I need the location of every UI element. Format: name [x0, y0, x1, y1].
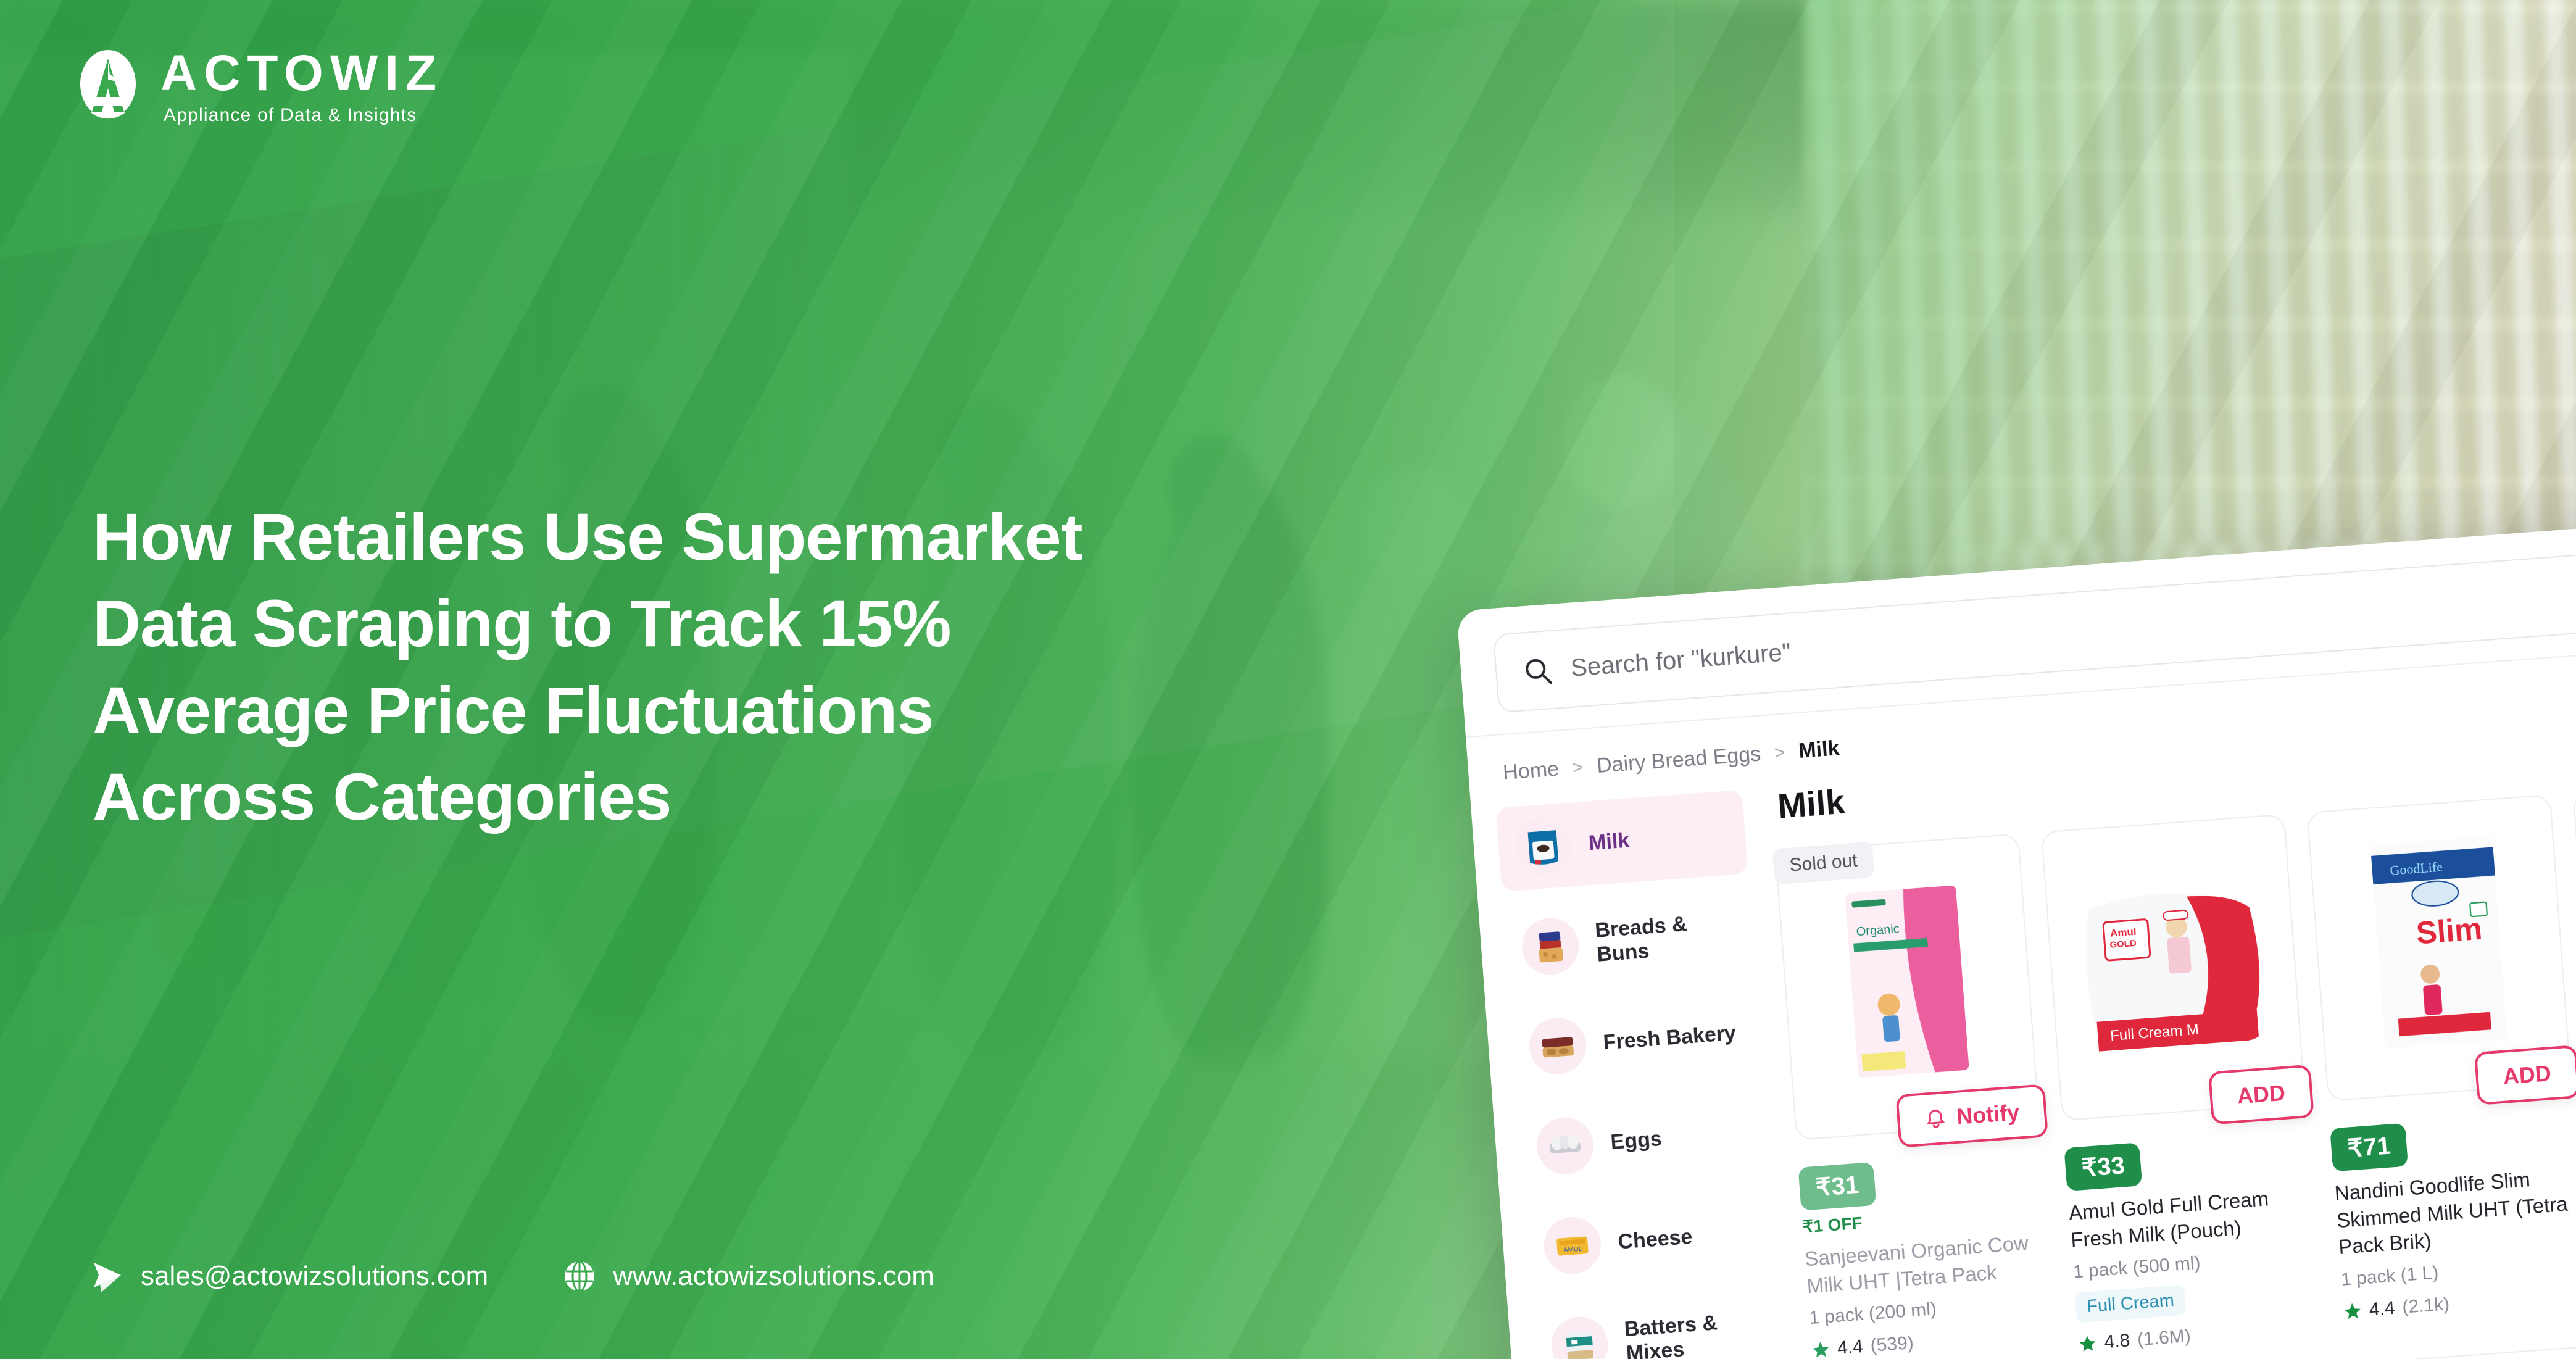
sidebar-item-milk[interactable]: Milk	[1496, 790, 1748, 892]
search-icon	[1522, 655, 1553, 686]
app-mockup: Search for "kurkure" Home > Dairy Bread …	[1456, 512, 2576, 1359]
footer-email[interactable]: sales@actowizsolutions.com	[90, 1259, 488, 1294]
sidebar-item-breads-buns[interactable]: Breads & Buns	[1503, 889, 1755, 991]
product-image: Sold out Organic	[1775, 833, 2040, 1141]
product-name: Nandini Goodlife Slim Skimmed Milk UHT (…	[2333, 1162, 2576, 1260]
brand-name: ACTOWIZ	[160, 48, 443, 99]
brand-tagline: Appliance of Data & Insights	[164, 106, 443, 125]
rating-count: (539)	[1870, 1332, 1914, 1357]
footer-website[interactable]: www.actowizsolutions.com	[562, 1259, 934, 1294]
product-name: Amul Gold Full Cream Fresh Milk (Pouch)	[2068, 1182, 2316, 1253]
svg-text:GOLD: GOLD	[2109, 938, 2137, 950]
product-grid-row-1: Sold out Organic	[1775, 755, 2576, 1359]
milk-pouch-icon	[1513, 817, 1573, 877]
sanjeevani-tetra-pack-image: Organic	[1845, 885, 1969, 1081]
batter-pack-icon	[1549, 1315, 1610, 1359]
nandini-slim-tetra-image: GoodLife Slim	[2370, 836, 2508, 1052]
headline-line-2: Data Scraping to Track 15%	[93, 580, 1315, 667]
rating-count: (2.1k)	[2401, 1294, 2450, 1318]
sidebar-label: Batters & Mixes	[1624, 1308, 1768, 1359]
headline-line-3: Average Price Fluctuations	[93, 667, 1315, 754]
sidebar-label: Breads & Buns	[1594, 908, 1738, 966]
product-card[interactable]: Sold out Organic	[1775, 833, 2057, 1359]
bread-icon	[1520, 916, 1581, 976]
add-button[interactable]: ADD	[2474, 1045, 2576, 1105]
sidebar-item-fresh-bakery[interactable]: Fresh Bakery	[1510, 989, 1763, 1091]
breadcrumb-item-dairy-bread-eggs[interactable]: Dairy Bread Eggs	[1596, 742, 1762, 778]
add-label: ADD	[2236, 1080, 2286, 1110]
notify-button[interactable]: Notify	[1895, 1084, 2048, 1147]
bakery-icon	[1527, 1016, 1588, 1076]
status-badge: Sold out	[1772, 842, 1875, 885]
headline-line-1: How Retailers Use Supermarket	[93, 494, 1315, 580]
star-icon	[2343, 1301, 2362, 1321]
notify-label: Notify	[1956, 1099, 2021, 1129]
product-image: Nestle EveryDay ADD	[2572, 775, 2576, 1082]
svg-text:Amul: Amul	[2109, 926, 2137, 939]
product-image: Amul GOLD Full Cream M ADD	[2041, 814, 2306, 1121]
grocery-app-window: Search for "kurkure" Home > Dairy Bread …	[1456, 512, 2576, 1359]
rating-value: 4.4	[2369, 1297, 2396, 1320]
footer-website-label: www.actowizsolutions.com	[613, 1261, 934, 1292]
price-badge: ₹71	[2330, 1123, 2408, 1172]
bell-icon	[1924, 1107, 1948, 1131]
sidebar-item-batters-mixes[interactable]: Batters & Mixes	[1532, 1289, 1785, 1359]
product-listing: Milk Sold out Organic	[1742, 688, 2576, 1359]
rating-count: (1.6M)	[2137, 1326, 2192, 1350]
app-body: Milk Breads & Buns	[1471, 707, 2576, 1359]
product-card[interactable]: GoodLife Slim ADD	[2307, 794, 2576, 1336]
svg-text:AMUL: AMUL	[1563, 1245, 1582, 1254]
cheese-icon: AMUL	[1542, 1215, 1603, 1276]
sidebar-label: Cheese	[1617, 1224, 1693, 1254]
add-label: ADD	[2502, 1060, 2552, 1090]
footer-contact: sales@actowizsolutions.com www.actowizso…	[90, 1259, 934, 1294]
eggs-icon	[1535, 1115, 1595, 1176]
sidebar-label: Fresh Bakery	[1602, 1021, 1737, 1055]
star-icon	[2078, 1334, 2098, 1353]
product-rating: 4.8 (1.6M)	[2078, 1316, 2323, 1355]
price-badge: ₹31	[1798, 1162, 1877, 1211]
product-rating: 4.4 (539)	[1811, 1322, 2056, 1359]
product-card[interactable]: Amul GOLD Full Cream M ADD	[2041, 814, 2323, 1355]
breadcrumb-item-home[interactable]: Home	[1502, 757, 1560, 786]
amul-gold-pouch-image: Amul GOLD Full Cream M	[2074, 873, 2271, 1055]
sidebar-item-cheese[interactable]: AMUL Cheese	[1525, 1189, 1777, 1290]
rating-value: 4.4	[1837, 1336, 1864, 1359]
breadcrumb-item-milk: Milk	[1798, 736, 1840, 763]
product-rating: 4.4 (2.1k)	[2343, 1283, 2576, 1322]
actowiz-a-mark-icon	[72, 50, 144, 123]
paper-plane-icon	[90, 1259, 125, 1294]
sidebar-label: Eggs	[1610, 1126, 1663, 1154]
headline-line-4: Across Categories	[93, 754, 1315, 840]
svg-text:Slim: Slim	[2415, 911, 2483, 951]
rating-value: 4.8	[2103, 1330, 2130, 1353]
sidebar-label: Milk	[1588, 828, 1631, 855]
search-placeholder: Search for "kurkure"	[1570, 638, 1792, 682]
add-button[interactable]: ADD	[2208, 1065, 2314, 1125]
product-image: GoodLife Slim ADD	[2307, 794, 2572, 1102]
brand-logo[interactable]: ACTOWIZ Appliance of Data & Insights	[72, 48, 443, 125]
globe-icon	[562, 1259, 597, 1294]
page-title: How Retailers Use Supermarket Data Scrap…	[93, 494, 1315, 841]
breadcrumb-separator: >	[1572, 757, 1584, 778]
breadcrumb-separator: >	[1774, 742, 1786, 763]
product-name: Sanjeevani Organic Cow Milk UHT |Tetra P…	[1804, 1228, 2051, 1300]
star-icon	[1811, 1340, 1830, 1359]
price-badge: ₹33	[2064, 1142, 2142, 1191]
product-card[interactable]: GoodLife मिल्क	[2347, 1346, 2576, 1359]
product-tag: Full Cream	[2075, 1285, 2187, 1323]
footer-email-label: sales@actowizsolutions.com	[141, 1261, 488, 1292]
sidebar-item-eggs[interactable]: Eggs	[1518, 1089, 1770, 1191]
